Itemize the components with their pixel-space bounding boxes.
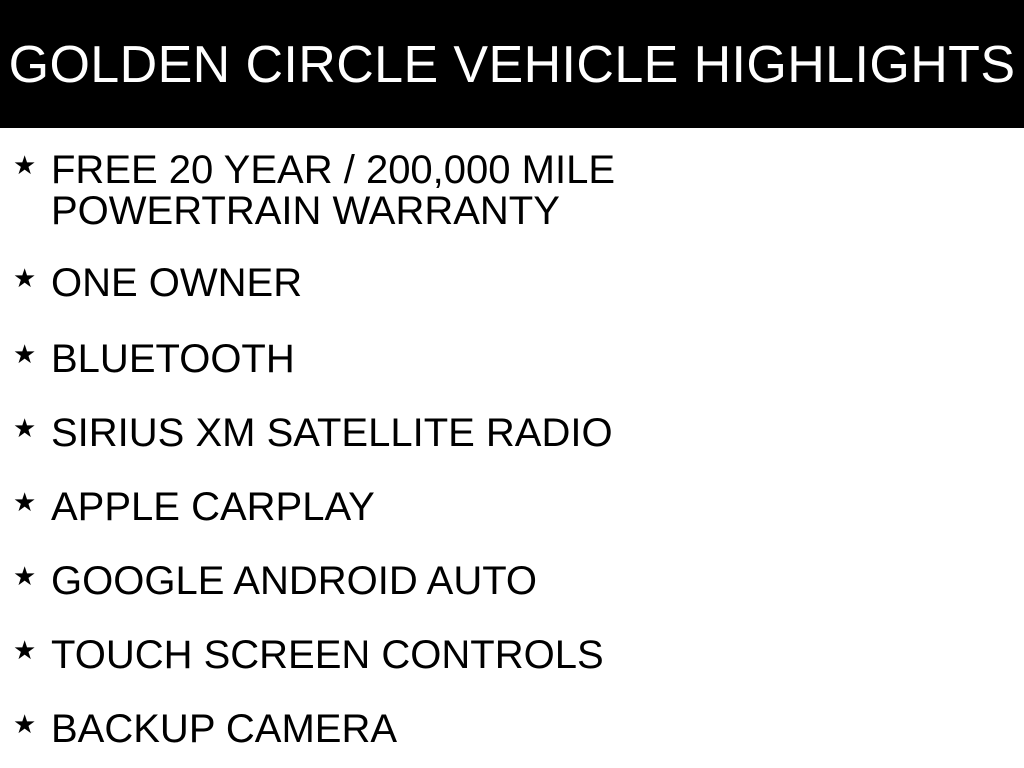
list-item-label: FREE 20 YEAR / 200,000 MILE POWERTRAIN W…: [51, 150, 841, 232]
list-item: ★ FREE 20 YEAR / 200,000 MILE POWERTRAIN…: [0, 128, 1024, 232]
header-banner: GOLDEN CIRCLE VEHICLE HIGHLIGHTS: [0, 0, 1024, 128]
list-item: ★ APPLE CARPLAY: [0, 454, 1024, 528]
star-bullet-icon: ★: [13, 563, 39, 589]
page-title: GOLDEN CIRCLE VEHICLE HIGHLIGHTS: [9, 38, 1016, 93]
list-item-label: ONE OWNER: [51, 263, 1000, 304]
highlights-list: ★ FREE 20 YEAR / 200,000 MILE POWERTRAIN…: [0, 128, 1024, 750]
list-item: ★ ONE OWNER: [0, 232, 1024, 306]
list-item-label: APPLE CARPLAY: [51, 487, 1000, 528]
star-bullet-icon: ★: [13, 152, 39, 178]
list-item-label: TOUCH SCREEN CONTROLS: [51, 635, 1000, 676]
list-item: ★ TOUCH SCREEN CONTROLS: [0, 602, 1024, 676]
star-bullet-icon: ★: [13, 637, 39, 663]
list-item: ★ BACKUP CAMERA: [0, 676, 1024, 750]
star-bullet-icon: ★: [13, 265, 39, 291]
list-item-label: SIRIUS XM SATELLITE RADIO: [51, 413, 1000, 454]
list-item-label: BLUETOOTH: [51, 339, 1000, 380]
star-bullet-icon: ★: [13, 341, 39, 367]
vehicle-highlights-page: GOLDEN CIRCLE VEHICLE HIGHLIGHTS ★ FREE …: [0, 0, 1024, 768]
star-bullet-icon: ★: [13, 415, 39, 441]
list-item: ★ SIRIUS XM SATELLITE RADIO: [0, 380, 1024, 454]
list-item-label: GOOGLE ANDROID AUTO: [51, 561, 1000, 602]
list-item-label: BACKUP CAMERA: [51, 709, 1000, 750]
star-bullet-icon: ★: [13, 711, 39, 737]
star-bullet-icon: ★: [13, 489, 39, 515]
list-item: ★ GOOGLE ANDROID AUTO: [0, 528, 1024, 602]
list-item: ★ BLUETOOTH: [0, 306, 1024, 380]
